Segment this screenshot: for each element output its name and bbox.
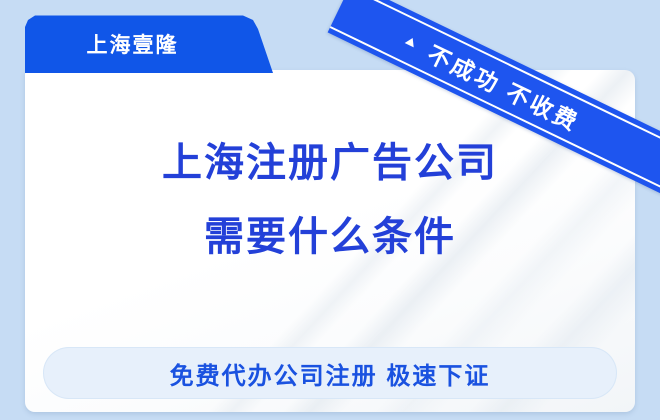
headline-line-2: 需要什么条件	[25, 200, 635, 274]
triangle-up-icon	[405, 36, 417, 48]
cta-pill[interactable]: 免费代办公司注册 极速下证	[43, 347, 617, 399]
poster-canvas: 上海壹隆 上海注册广告公司 需要什么条件 免费代办公司注册 极速下证 不成功 不…	[0, 0, 660, 420]
cta-pill-label: 免费代办公司注册 极速下证	[170, 356, 491, 391]
headline: 上海注册广告公司 需要什么条件	[25, 126, 635, 274]
brand-tab-label: 上海壹隆	[25, 15, 240, 73]
brand-tab[interactable]: 上海壹隆	[25, 15, 273, 73]
